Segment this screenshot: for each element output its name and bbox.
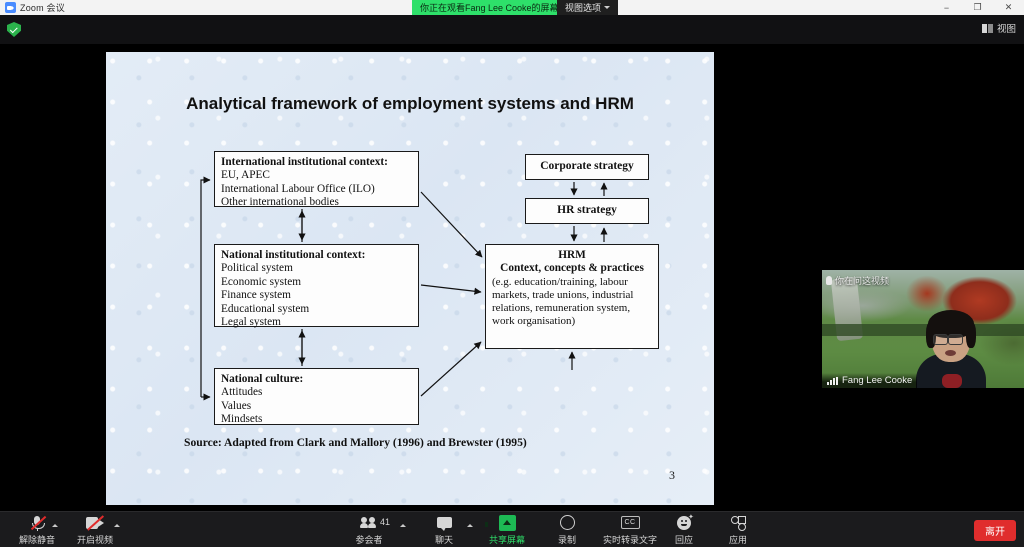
presentation-slide: Analytical framework of employment syste… [106,52,714,505]
participant-count-badge: 41 [380,517,390,527]
camera-muted-icon [86,514,104,531]
box-national-institutional-context: National institutional context: Politica… [214,244,419,327]
mic-icon [826,276,832,285]
signal-bars-icon [827,377,838,385]
app-title: Zoom 会议 [20,1,65,14]
box-hr-strategy: HR strategy [525,198,649,224]
nation-line-1: Political system [221,262,412,275]
intl-line-3: Other international bodies [221,196,412,209]
toolbar-button-unmute[interactable]: 解除静音 [8,514,66,546]
hrm-title: HRM [558,249,586,261]
view-toggle-label: 视图 [997,21,1016,35]
mic-muted-icon [31,514,44,531]
intl-line-2: International Labour Office (ILO) [221,183,412,196]
toolbar-button-apps[interactable]: 应用 [709,514,767,546]
window-controls: − ❐ ✕ [931,0,1024,15]
chat-chevron-up-icon[interactable] [467,524,473,527]
leave-meeting-button[interactable]: 离开 [974,520,1016,541]
apps-label: 应用 [729,533,747,546]
participant-name-bar: Fang Lee Cooke [822,373,917,388]
maximize-button[interactable]: ❐ [962,0,993,15]
toolbar-button-start-video[interactable]: 开启视频 [66,514,124,546]
overlay-text: 你在问这视频 [835,274,889,287]
chat-bubble-icon [437,514,452,531]
slide-title: Analytical framework of employment syste… [106,94,714,114]
view-options-label: 视图选项 [565,1,601,14]
minimize-button[interactable]: − [931,0,962,15]
app-identity: Zoom 会议 [0,1,65,14]
slide-page-number: 3 [669,468,675,483]
video-chevron-up-icon[interactable] [114,524,120,527]
culture-line-1: Attitudes [221,386,412,399]
layout-grid-icon [982,24,993,33]
toolbar-button-reactions[interactable]: ✦ 回应 [655,514,713,546]
nation-line-4: Educational system [221,303,412,316]
people-icon: 41 [360,514,378,531]
intl-heading: International institutional context: [221,156,388,168]
zoom-meeting-window: Zoom 会议 − ❐ ✕ 你正在观看Fang Lee Cooke的屏幕 视图选… [0,0,1024,547]
participants-chevron-up-icon[interactable] [400,524,406,527]
apps-icon [731,514,746,531]
box-hrm: HRM Context, concepts & practices (e.g. … [485,244,659,349]
participants-label: 参会者 [355,533,382,546]
participant-avatar [914,308,988,388]
record-label: 录制 [558,533,576,546]
culture-line-2: Values [221,400,412,413]
shared-screen-stage[interactable]: Analytical framework of employment syste… [0,44,1024,511]
box-national-culture: National culture: Attitudes Values Minds… [214,368,419,425]
record-circle-icon [560,514,575,531]
start-video-label: 开启视频 [77,533,113,546]
nation-line-3: Finance system [221,289,412,302]
box-international-institutional-context: International institutional context: EU,… [214,151,419,207]
nation-line-2: Economic system [221,276,412,289]
participant-name: Fang Lee Cooke [842,375,912,386]
toolbar-button-participants[interactable]: 41 参会者 [340,514,398,546]
meeting-toolbar: 解除静音 开启视频 41 参会者 聊天 [0,511,1024,547]
cc-icon: CC [621,514,640,531]
meeting-sub-bar: 视图 [0,15,1024,44]
live-transcript-label: 实时转录文字 [603,533,657,546]
toolbar-button-chat[interactable]: 聊天 [415,514,473,546]
slide-source-note: Source: Adapted from Clark and Mallory (… [184,436,527,449]
culture-heading: National culture: [221,373,303,385]
share-screen-icon [499,514,516,531]
nation-line-5: Legal system [221,316,412,329]
box-corporate-strategy: Corporate strategy [525,154,649,180]
smiley-reaction-icon: ✦ [677,514,691,531]
view-toggle-button[interactable]: 视图 [982,21,1016,35]
toolbar-button-share-screen[interactable]: 共享屏幕 [478,514,536,546]
culture-line-3: Mindsets [221,413,412,426]
view-options-button[interactable]: 视图选项 [557,0,618,15]
nation-heading: National institutional context: [221,249,365,261]
reactions-label: 回应 [675,533,693,546]
intl-line-1: EU, APEC [221,169,412,182]
unmute-label: 解除静音 [19,533,55,546]
close-button[interactable]: ✕ [993,0,1024,15]
hrm-body: (e.g. education/training, labour markets… [492,276,652,329]
chevron-down-icon [604,6,610,9]
toolbar-button-record[interactable]: 录制 [538,514,596,546]
participant-video-tile[interactable]: 你在问这视频 Fang Lee Cooke [822,270,1024,388]
chat-label: 聊天 [435,533,453,546]
video-overlay-label: 你在问这视频 [826,274,889,287]
hrm-subtitle: Context, concepts & practices [500,262,644,274]
unmute-chevron-up-icon[interactable] [52,524,58,527]
screen-share-banner: 你正在观看Fang Lee Cooke的屏幕 [412,0,567,15]
zoom-camera-icon [5,2,16,13]
share-screen-label: 共享屏幕 [489,533,525,546]
encryption-shield-icon[interactable] [7,22,21,37]
